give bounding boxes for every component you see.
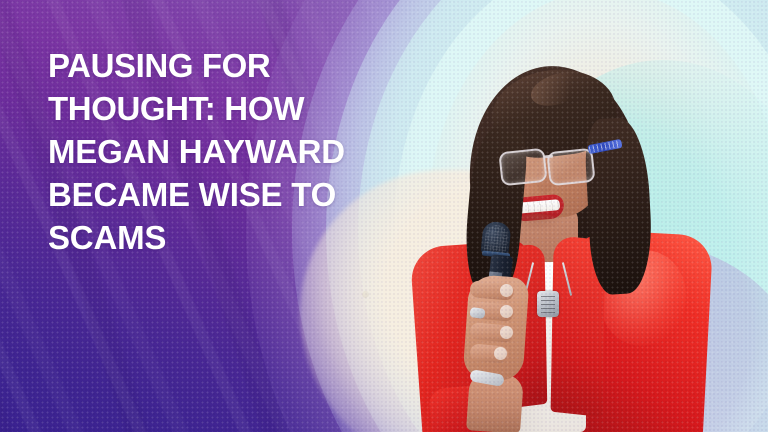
fingernail bbox=[500, 305, 513, 318]
fingernail bbox=[500, 284, 513, 297]
article-banner: Pausing for thought: How Megan Hayward b… bbox=[0, 0, 768, 432]
necklace-pendant bbox=[537, 291, 559, 317]
fingernail bbox=[500, 326, 513, 339]
eyeglasses-lens-left bbox=[498, 148, 547, 187]
eyeglasses-lens-right bbox=[546, 148, 595, 187]
banner-headline: Pausing for thought: How Megan Hayward b… bbox=[48, 44, 428, 259]
finger-ring bbox=[469, 307, 485, 319]
fingernail bbox=[494, 347, 507, 360]
